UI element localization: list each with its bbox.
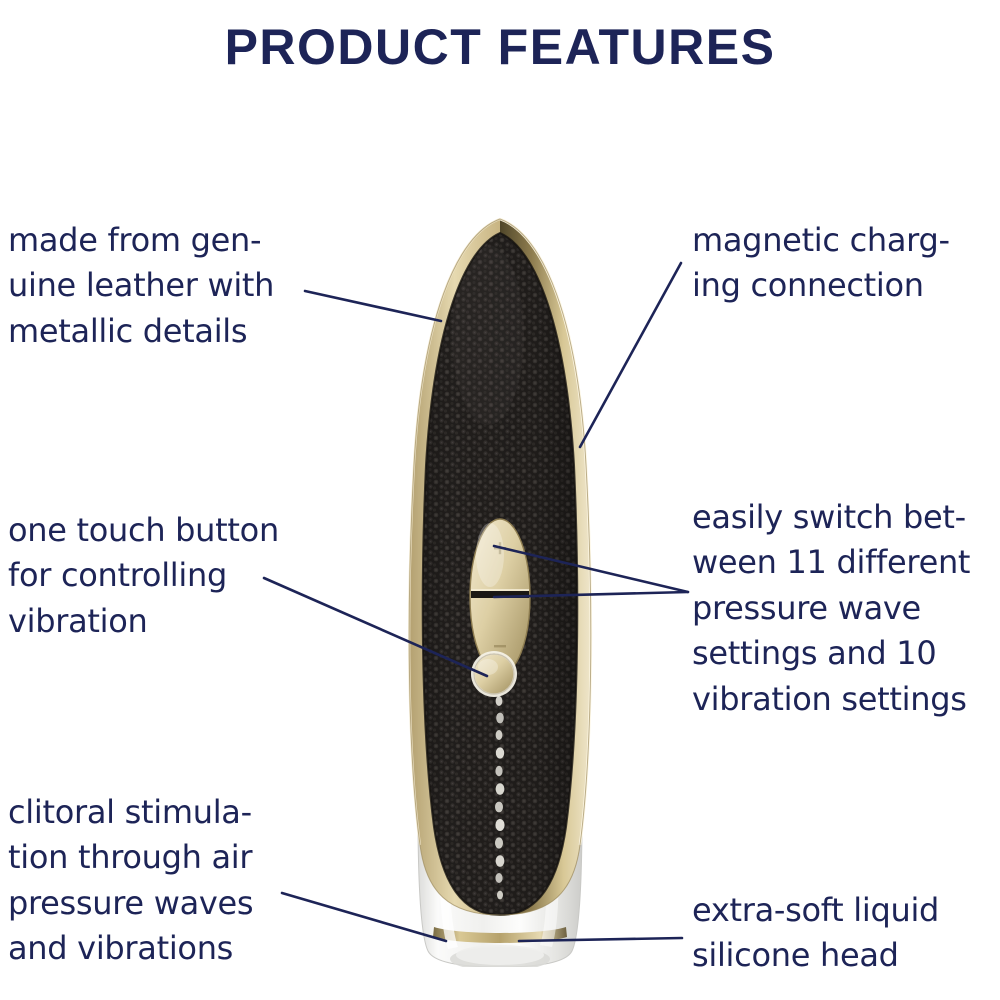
callout-one-touch-button: one touch button for controlling vibrati…: [8, 508, 338, 644]
callout-silicone-head: extra-soft liquid silicone head: [692, 888, 998, 979]
minus-icon: [494, 645, 506, 647]
callout-clitoral-stimulation: clitoral stimula- tion through air press…: [8, 790, 338, 972]
power-button[interactable]: [471, 651, 517, 697]
callout-magnetic-charging: magnetic charg- ing connection: [692, 218, 998, 309]
product-image: [378, 215, 622, 967]
callout-leather: made from gen- uine leather with metalli…: [8, 218, 338, 354]
callout-settings: easily switch bet- ween 11 different pre…: [692, 495, 998, 722]
product-features-infographic: PRODUCT FEATURES: [0, 0, 1000, 1000]
page-title: PRODUCT FEATURES: [0, 18, 1000, 76]
rocker-button[interactable]: [470, 519, 530, 675]
product-illustration: [378, 215, 622, 967]
